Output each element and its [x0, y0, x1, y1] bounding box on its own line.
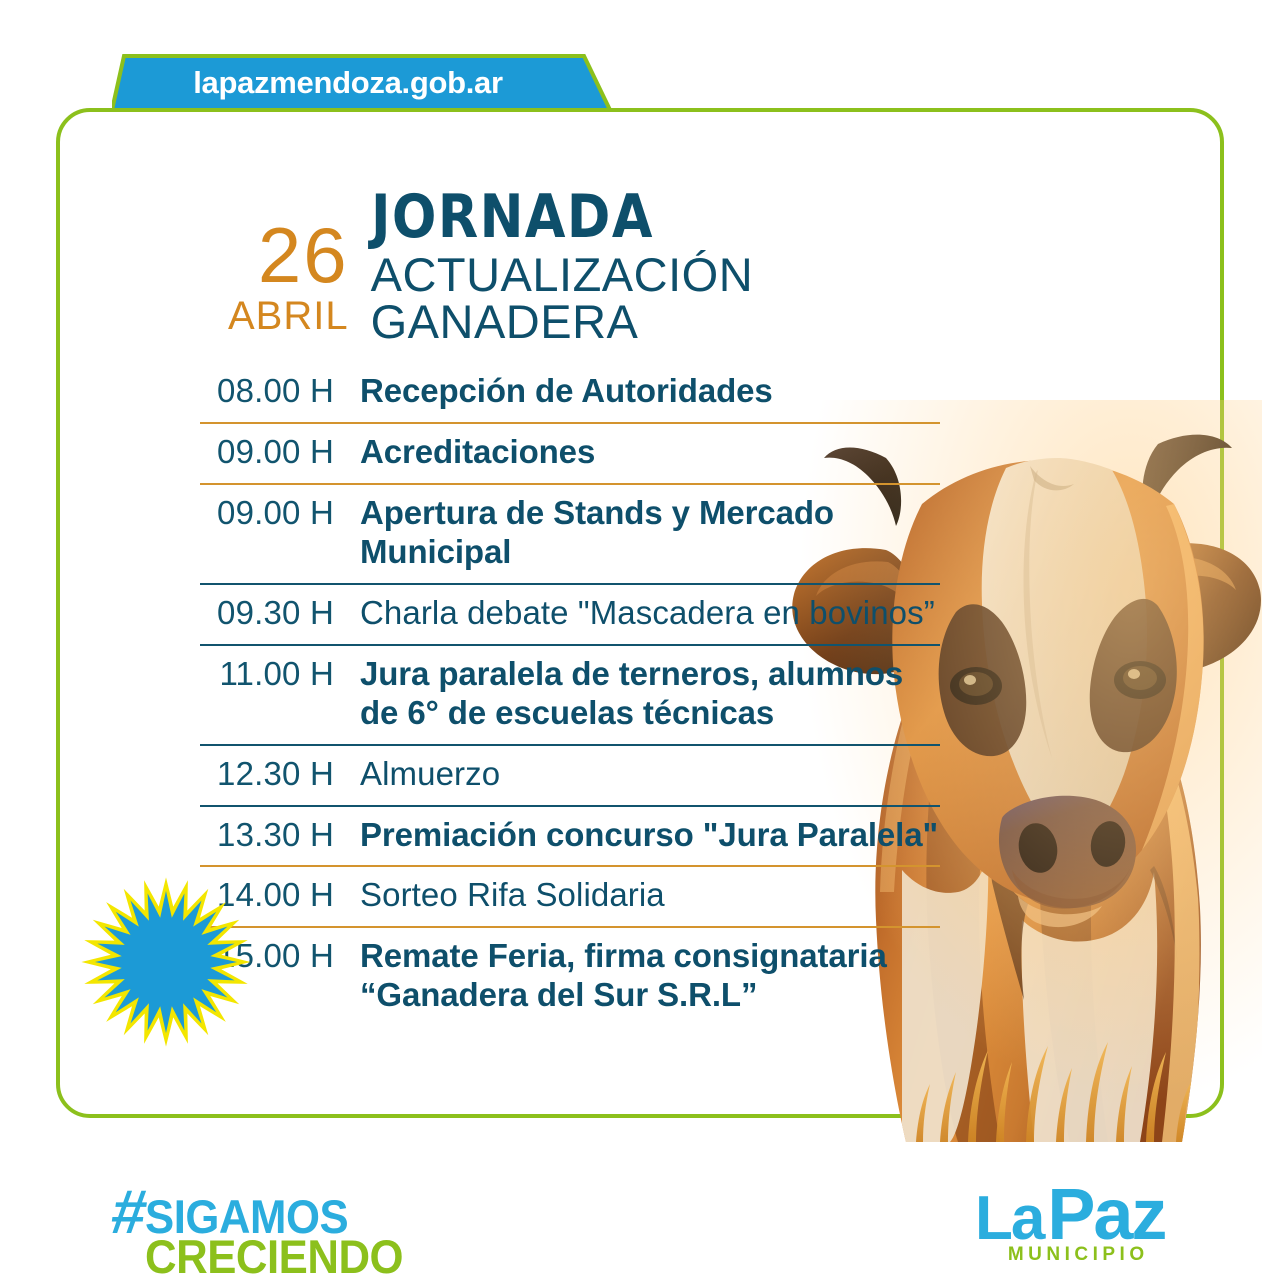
schedule-time: 11.00 H: [200, 655, 360, 694]
schedule-divider: [200, 865, 940, 867]
logo-wordmark: LaPaz: [975, 1182, 1165, 1248]
starburst-fill: [95, 891, 237, 1033]
schedule-row: 09.30 HCharla debate "Mascadera en bovin…: [200, 594, 940, 635]
schedule-event: Acreditaciones: [360, 433, 940, 474]
event-title: JORNADA ACTUALIZACIÓN GANADERA: [371, 188, 754, 345]
logo-la: La: [975, 1190, 1043, 1247]
schedule-divider: [200, 805, 940, 807]
schedule-event: Apertura de Stands y Mercado Municipal: [360, 494, 940, 574]
title-line-2: ACTUALIZACIÓN: [371, 252, 754, 298]
schedule-event: Almuerzo: [360, 755, 940, 796]
event-schedule: 08.00 HRecepción de Autoridades09.00 HAc…: [200, 372, 940, 1017]
hashtag-symbol: #: [108, 1186, 147, 1239]
event-date: 26 ABRIL: [228, 188, 371, 336]
schedule-row: 13.30 HPremiación concurso "Jura Paralel…: [200, 816, 940, 857]
schedule-event: Premiación concurso "Jura Paralela": [360, 816, 940, 857]
starburst-badge: [76, 872, 256, 1052]
schedule-divider: [200, 483, 940, 485]
schedule-time: 09.30 H: [200, 594, 360, 633]
schedule-event: Jura paralela de terneros, alumnos de 6°…: [360, 655, 940, 735]
event-header: 26 ABRIL JORNADA ACTUALIZACIÓN GANADERA: [228, 188, 753, 345]
schedule-divider: [200, 644, 940, 646]
logo-paz: Paz: [1047, 1182, 1165, 1248]
schedule-row: 09.00 HApertura de Stands y Mercado Muni…: [200, 494, 940, 574]
starburst-icon: [76, 872, 256, 1052]
campaign-hashtag-logo: # SIGAMOS CRECIENDO: [112, 1186, 423, 1278]
schedule-row: 11.00 HJura paralela de terneros, alumno…: [200, 655, 940, 735]
schedule-time: 09.00 H: [200, 494, 360, 533]
date-month: ABRIL: [228, 296, 349, 336]
schedule-time: 13.30 H: [200, 816, 360, 855]
website-url-banner[interactable]: lapazmendoza.gob.ar: [112, 54, 612, 112]
schedule-row: 08.00 HRecepción de Autoridades: [200, 372, 940, 413]
title-line-1: JORNADA: [371, 188, 742, 247]
schedule-divider: [200, 583, 940, 585]
title-line-3: GANADERA: [371, 299, 754, 345]
hashtag-line-2: CRECIENDO: [145, 1237, 403, 1277]
schedule-divider: [200, 926, 940, 928]
schedule-event: Remate Feria, firma consignataria “Ganad…: [360, 937, 940, 1017]
logo-subtitle: MUNICIPIO: [991, 1244, 1165, 1266]
lapaz-municipality-logo: LaPaz MUNICIPIO: [975, 1182, 1165, 1266]
schedule-time: 08.00 H: [200, 372, 360, 411]
schedule-time: 09.00 H: [200, 433, 360, 472]
schedule-divider: [200, 744, 940, 746]
schedule-row: 09.00 HAcreditaciones: [200, 433, 940, 474]
schedule-event: Charla debate "Mascadera en bovinos”: [360, 594, 940, 635]
schedule-time: 12.30 H: [200, 755, 360, 794]
date-day: 26: [228, 216, 349, 294]
schedule-event: Recepción de Autoridades: [360, 372, 940, 413]
schedule-row: 14.00 HSorteo Rifa Solidaria: [200, 876, 940, 917]
schedule-row: 15.00 HRemate Feria, firma consignataria…: [200, 937, 940, 1017]
website-url-text: lapazmendoza.gob.ar: [112, 54, 612, 112]
schedule-divider: [200, 422, 940, 424]
schedule-event: Sorteo Rifa Solidaria: [360, 876, 940, 917]
schedule-row: 12.30 HAlmuerzo: [200, 755, 940, 796]
